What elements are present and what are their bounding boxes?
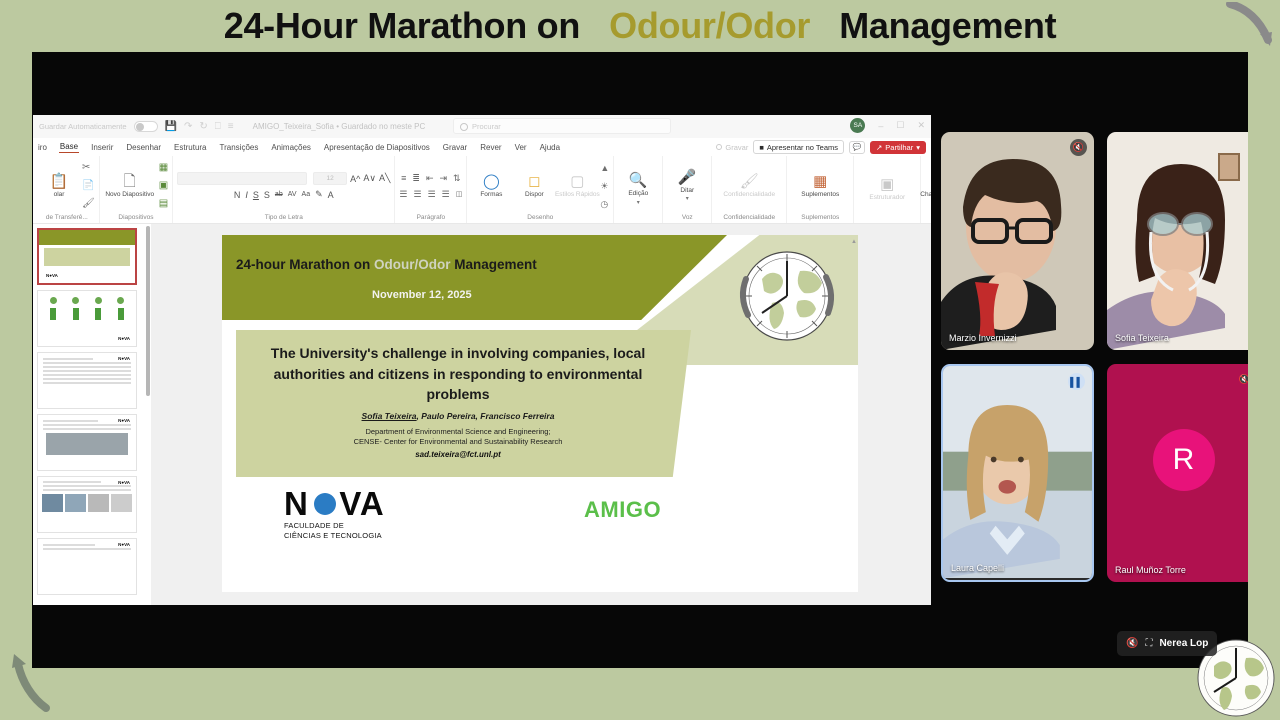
paragraph-row-2: ☰ ☰ ☰ ☰ ◫ bbox=[399, 189, 462, 200]
list-item[interactable]: N●VA bbox=[37, 414, 137, 471]
thumb-arrow-icon bbox=[118, 308, 124, 320]
ribbon-group-slides: 🗋 Novo Diapositivo ▦ ▣ ▤ Diapositivos bbox=[100, 156, 173, 223]
shapes-button[interactable]: ◯ Formas bbox=[471, 174, 511, 199]
tab-ver[interactable]: Ver bbox=[514, 143, 528, 152]
align-center-icon[interactable]: ☰ bbox=[413, 189, 421, 200]
mic-muted-icon: 🔇 bbox=[1070, 139, 1087, 156]
thumb-node-icon bbox=[95, 297, 102, 304]
present-icon[interactable]: ⎕ bbox=[215, 121, 221, 132]
group-label-font: Tipo de Letra bbox=[265, 214, 303, 222]
section-icon[interactable]: ▤ bbox=[159, 196, 168, 212]
participant-tile-sofia[interactable]: Sofia Teixeira bbox=[1107, 132, 1248, 350]
pill-participant-name: Nerea Lop bbox=[1159, 638, 1208, 649]
present-in-teams-button[interactable]: ■ Apresentar no Teams bbox=[753, 140, 844, 154]
strikethrough-icon[interactable]: ab bbox=[275, 191, 283, 198]
chevron-down-icon: ▾ bbox=[916, 143, 920, 152]
share-icon: ↗ bbox=[876, 143, 882, 152]
editing-label: Edição bbox=[628, 190, 648, 198]
change-case-icon[interactable]: Aa bbox=[302, 191, 311, 198]
powerpoint-window: Guardar Automaticamente 💾 ↷ ↻ ⎕ ≡ AMIGO_… bbox=[33, 115, 931, 605]
teams-label: Apresentar no Teams bbox=[767, 143, 838, 152]
restore-icon[interactable]: ☐ bbox=[896, 120, 904, 131]
ppt-body: N●VA bbox=[33, 224, 931, 605]
sensitivity-button[interactable]: 🖌 Confidencialidade bbox=[716, 174, 782, 199]
editing-button[interactable]: 🔍 Edição ▾ bbox=[618, 173, 658, 206]
shadow-icon[interactable]: S bbox=[264, 190, 270, 200]
avatar: R bbox=[1153, 429, 1215, 491]
window-controls: SA – ☐ ✕ bbox=[850, 118, 925, 133]
tab-ficheiro[interactable]: iro bbox=[37, 143, 48, 152]
nova-logo-subtitle: FACULDADE DE CIÊNCIAS E TECNOLOGIA bbox=[284, 521, 385, 540]
tab-desenhar[interactable]: Desenhar bbox=[125, 143, 162, 152]
slide-authors: Sofia Teixeira, Paulo Pereira, Francisco… bbox=[248, 411, 668, 421]
list-item[interactable]: N●VA bbox=[37, 352, 137, 409]
numbering-icon[interactable]: ≣ bbox=[412, 173, 420, 184]
nova-logo-word: N VA bbox=[284, 487, 385, 521]
clear-formatting-icon[interactable]: A╲ bbox=[379, 173, 390, 184]
thumb-header bbox=[39, 230, 135, 245]
ribbon: 📋 olar ✂ 📄 🖌 de Transferê... bbox=[33, 156, 931, 224]
justify-icon[interactable]: ☰ bbox=[442, 189, 450, 200]
thumb-photo bbox=[88, 494, 109, 512]
new-slide-label: Novo Diapositivo bbox=[105, 191, 154, 199]
ribbon-group-drawing: ◯ Formas ◻ Dispor ▢ Estilos Rápidos ▲ bbox=[467, 156, 614, 223]
ppt-title-bar: Guardar Automaticamente 💾 ↷ ↻ ⎕ ≡ AMIGO_… bbox=[33, 115, 931, 138]
tab-apresentacao[interactable]: Apresentação de Diapositivos bbox=[323, 143, 431, 152]
tab-animacoes[interactable]: Animações bbox=[270, 143, 312, 152]
decrease-font-icon[interactable]: A∨ bbox=[363, 173, 376, 184]
screen-root: 24-Hour Marathon on Odour/Odor Managemen… bbox=[0, 0, 1280, 720]
thumb-logo: N●VA bbox=[118, 480, 130, 485]
designer-icon: ▣ bbox=[880, 177, 894, 193]
undo-icon[interactable]: ↷ bbox=[184, 121, 192, 132]
slide-thumbnail-panel[interactable]: N●VA bbox=[33, 224, 151, 605]
tab-transicoes[interactable]: Transições bbox=[219, 143, 260, 152]
chevron-down-icon: ▾ bbox=[637, 199, 640, 206]
slide-scrollbar[interactable]: ▲ bbox=[851, 239, 856, 592]
thumb-arrow-icon bbox=[95, 308, 101, 320]
font-family-input[interactable] bbox=[177, 172, 307, 185]
slide-title: 24-hour Marathon on Odour/Odor Managemen… bbox=[236, 257, 537, 272]
camera-off-icon[interactable]: ⛶ bbox=[1145, 638, 1152, 649]
autosave-toggle[interactable] bbox=[134, 121, 158, 132]
document-name: AMIGO_Teixeira_Sofia • Guardado no meste… bbox=[253, 122, 426, 131]
mic-muted-icon: 🔇 bbox=[1236, 371, 1248, 388]
new-slide-icon: 🗋 bbox=[124, 174, 136, 190]
text-highlight-icon[interactable]: ✎ bbox=[315, 189, 323, 200]
nova-sub-line1: FACULDADE DE bbox=[284, 521, 385, 531]
slide-department-line1: Department of Environmental Science and … bbox=[248, 427, 668, 437]
decrease-indent-icon[interactable]: ⇤ bbox=[426, 173, 434, 184]
participant-tile-marzio[interactable]: 🔇 Marzio Invernizzi bbox=[941, 132, 1094, 350]
slide-header-band bbox=[222, 235, 727, 320]
close-icon[interactable]: ✕ bbox=[917, 120, 925, 131]
record-dot-icon bbox=[716, 144, 722, 150]
bold-icon[interactable]: N bbox=[234, 190, 241, 200]
shapes-icon: ◯ bbox=[483, 174, 500, 190]
paste-button[interactable]: 📋 olar bbox=[39, 174, 79, 199]
character-spacing-icon[interactable]: AV bbox=[288, 191, 297, 198]
thumb-node-icon bbox=[72, 297, 79, 304]
shape-effects-icon[interactable]: ◷ bbox=[600, 196, 609, 212]
shape-outline-icon[interactable]: ☀ bbox=[600, 178, 609, 194]
thumb-logo: N●VA bbox=[118, 418, 130, 423]
ribbon-group-ai: ◉ ChatGPT PowerPoint AI bbox=[921, 156, 931, 223]
participant-name: Raul Muñoz Torre bbox=[1115, 565, 1186, 575]
save-icon[interactable]: 💾 bbox=[165, 121, 177, 132]
video-feed bbox=[943, 366, 1092, 578]
mic-muted-icon[interactable]: 🔇 bbox=[1126, 638, 1138, 649]
thumb-arrow-icon bbox=[50, 308, 56, 320]
ribbon-group-paragraph: ≡ ≣ ⇤ ⇥ ⇅ ☰ ☰ ☰ ☰ ◫ bbox=[395, 156, 467, 223]
banner-title-highlight: Odour/Odor bbox=[609, 5, 810, 46]
slide-department-line2: CENSE- Center for Environmental and Sust… bbox=[248, 437, 668, 447]
designer-button[interactable]: ▣ Estruturador bbox=[858, 177, 916, 202]
avatar[interactable]: SA bbox=[850, 118, 865, 133]
participant-tiles: 🔇 Marzio Invernizzi Sofia Tei bbox=[941, 132, 1248, 592]
increase-font-icon[interactable]: A^ bbox=[350, 174, 360, 184]
video-feed bbox=[941, 132, 1094, 350]
thumb-band bbox=[44, 248, 130, 266]
nova-logo: N VA FACULDADE DE CIÊNCIAS E TECNOLOGIA bbox=[284, 487, 385, 540]
group-label-voice: Voz bbox=[682, 214, 693, 222]
sensitivity-icon: 🖌 bbox=[740, 174, 759, 190]
self-view-pill[interactable]: 🔇 ⛶ Nerea Lop bbox=[1117, 631, 1217, 656]
ribbon-group-clipboard: 📋 olar ✂ 📄 🖌 de Transferê... bbox=[35, 156, 100, 223]
font-size-input[interactable]: 12 bbox=[313, 172, 347, 185]
record-label: Gravar bbox=[725, 143, 748, 152]
thumbnail-scrollbar[interactable] bbox=[146, 226, 150, 396]
thumb-logo: N●VA bbox=[46, 273, 58, 278]
slide-canvas[interactable]: 24-hour Marathon on Odour/Odor Managemen… bbox=[222, 235, 858, 592]
layout-icon[interactable]: ▦ bbox=[159, 160, 168, 176]
nova-dot-icon bbox=[314, 493, 336, 515]
group-label-addins: Suplementos bbox=[801, 214, 839, 222]
teams-icon: ■ bbox=[759, 143, 764, 152]
slide-date: November 12, 2025 bbox=[372, 289, 472, 301]
ribbon-tabs: iro Base Inserir Desenhar Estrutura Tran… bbox=[33, 138, 931, 156]
participant-name: Marzio Invernizzi bbox=[949, 333, 1017, 343]
thumb-photo bbox=[46, 433, 128, 455]
tab-inserir[interactable]: Inserir bbox=[90, 143, 114, 152]
paste-label: olar bbox=[54, 191, 65, 199]
ribbon-group-voice: 🎤 Ditar ▾ Voz bbox=[663, 156, 712, 223]
ribbon-tabs-actions: Gravar ■ Apresentar no Teams 💬 ↗ Partilh… bbox=[716, 140, 931, 154]
quick-styles-icon: ▢ bbox=[570, 174, 584, 190]
shapes-label: Formas bbox=[480, 191, 502, 199]
slide-department: Department of Environmental Science and … bbox=[248, 427, 668, 447]
find-icon: 🔍 bbox=[629, 173, 648, 189]
comment-icon[interactable]: 💬 bbox=[849, 141, 865, 154]
tab-gravar[interactable]: Gravar bbox=[442, 143, 468, 152]
group-label-sensitivity: Confidencialidade bbox=[723, 214, 775, 222]
paragraph-row-1: ≡ ≣ ⇤ ⇥ ⇅ bbox=[401, 173, 460, 184]
group-label-clipboard: de Transferê... bbox=[46, 214, 88, 222]
slide-title-part2: Management bbox=[454, 257, 537, 272]
italic-icon[interactable]: I bbox=[245, 190, 248, 200]
search-placeholder: Procurar bbox=[472, 122, 501, 131]
amigo-logo: AMIGO bbox=[584, 497, 661, 523]
nova-sub-line2: CIÊNCIAS E TECNOLOGIA bbox=[284, 531, 385, 541]
chevron-down-icon: ▾ bbox=[686, 195, 689, 202]
thumb-node-icon bbox=[50, 297, 57, 304]
banner-title: 24-Hour Marathon on Odour/Odor Managemen… bbox=[224, 5, 1057, 47]
slide-title-part1: 24-hour Marathon on bbox=[236, 257, 370, 272]
globe-clock-icon bbox=[732, 241, 842, 351]
underline-icon[interactable]: S bbox=[253, 190, 259, 200]
record-button[interactable]: Gravar bbox=[716, 143, 748, 152]
shape-fill-icon[interactable]: ▲ bbox=[600, 160, 609, 176]
cut-icon[interactable]: ✂ bbox=[82, 160, 95, 176]
thumb-logo: N●VA bbox=[118, 542, 130, 547]
scroll-up-icon[interactable]: ▲ bbox=[851, 239, 856, 245]
slide-title-highlight: Odour/Odor bbox=[374, 257, 451, 272]
participant-name: Laura Capelli bbox=[951, 563, 1004, 573]
tab-base[interactable]: Base bbox=[59, 142, 79, 153]
thumb-node-icon bbox=[117, 297, 124, 304]
ribbon-group-sensitivity: 🖌 Confidencialidade Confidencialidade bbox=[712, 156, 787, 223]
search-input[interactable]: Procurar bbox=[453, 118, 671, 134]
format-painter-icon[interactable]: 🖌 bbox=[82, 196, 95, 212]
copy-icon[interactable]: 📄 bbox=[82, 178, 95, 194]
ribbon-group-font: 12 A^ A∨ A╲ N I S S ab AV Aa bbox=[173, 156, 395, 223]
reset-icon[interactable]: ▣ bbox=[159, 178, 168, 194]
slide-author-presenter: Sofia Teixeira bbox=[362, 411, 417, 421]
slide-authors-rest: , Paulo Pereira, Francisco Ferreira bbox=[417, 411, 555, 421]
font-color-icon[interactable]: A bbox=[328, 190, 334, 200]
microphone-icon: 🎤 bbox=[678, 170, 697, 186]
share-button[interactable]: ↗ Partilhar ▾ bbox=[870, 141, 926, 154]
dictate-label: Ditar bbox=[680, 187, 694, 195]
tab-rever[interactable]: Rever bbox=[479, 143, 502, 152]
bullets-icon[interactable]: ≡ bbox=[401, 173, 406, 183]
list-item[interactable]: N●VA bbox=[37, 290, 137, 347]
autosave-label: Guardar Automaticamente bbox=[39, 122, 127, 131]
ribbon-group-addins: ▦ Suplementos Suplementos bbox=[787, 156, 854, 223]
banner-title-part2: Management bbox=[839, 5, 1056, 46]
chatgpt-label: ChatGPT PowerPoint bbox=[920, 191, 931, 199]
increase-indent-icon[interactable]: ⇥ bbox=[440, 173, 448, 184]
thumb-photo bbox=[42, 494, 63, 512]
sensitivity-label: Confidencialidade bbox=[723, 191, 775, 199]
participant-name: Sofia Teixeira bbox=[1115, 333, 1169, 343]
slide-heading: The University's challenge in involving … bbox=[248, 343, 668, 405]
list-item[interactable]: N●VA bbox=[37, 538, 137, 595]
slide-editor-pane[interactable]: 24-hour Marathon on Odour/Odor Managemen… bbox=[151, 224, 931, 605]
video-feed bbox=[1107, 132, 1248, 350]
minimize-icon[interactable]: – bbox=[878, 121, 883, 131]
ribbon-group-designer: ▣ Estruturador bbox=[854, 156, 921, 223]
arrange-label: Dispor bbox=[525, 191, 544, 199]
add-ins-button[interactable]: ▦ Suplementos bbox=[791, 174, 849, 199]
align-right-icon[interactable]: ☰ bbox=[428, 189, 436, 200]
line-spacing-icon[interactable]: ⇅ bbox=[453, 173, 461, 184]
designer-label: Estruturador bbox=[869, 194, 905, 202]
participant-tile-laura[interactable]: ▌▌ Laura Capelli bbox=[941, 364, 1094, 582]
group-label-drawing: Desenho bbox=[527, 214, 553, 222]
arrange-icon: ◻ bbox=[528, 174, 540, 190]
font-format-row: N I S S ab AV Aa ✎ A bbox=[234, 189, 334, 200]
thumb-logo: N●VA bbox=[118, 336, 130, 341]
align-left-icon[interactable]: ☰ bbox=[399, 189, 407, 200]
audio-level-icon: ▌▌ bbox=[1068, 373, 1085, 390]
group-label-paragraph: Parágrafo bbox=[417, 214, 446, 222]
thumb-logo: N●VA bbox=[118, 356, 130, 361]
share-label: Partilhar bbox=[885, 143, 913, 152]
arrange-button[interactable]: ◻ Dispor bbox=[514, 174, 554, 199]
columns-icon[interactable]: ◫ bbox=[456, 190, 463, 198]
redo-icon[interactable]: ↻ bbox=[199, 121, 207, 132]
new-slide-button[interactable]: 🗋 Novo Diapositivo bbox=[104, 174, 156, 199]
list-item[interactable]: N●VA bbox=[37, 228, 137, 285]
ribbon-group-editing: 🔍 Edição ▾ bbox=[614, 156, 663, 223]
tab-estrutura[interactable]: Estrutura bbox=[173, 143, 207, 152]
thumb-photo bbox=[65, 494, 86, 512]
add-ins-icon: ▦ bbox=[813, 174, 827, 190]
slide-email: sad.teixeira@fct.unl.pt bbox=[248, 450, 668, 459]
chatgpt-button[interactable]: ◉ ChatGPT PowerPoint bbox=[925, 174, 931, 199]
dictate-button[interactable]: 🎤 Ditar ▾ bbox=[667, 170, 707, 203]
tab-ajuda[interactable]: Ajuda bbox=[539, 143, 561, 152]
quick-styles-button[interactable]: ▢ Estilos Rápidos bbox=[557, 174, 597, 199]
page-banner: 24-Hour Marathon on Odour/Odor Managemen… bbox=[0, 0, 1280, 52]
thumb-photo bbox=[111, 494, 132, 512]
group-label-slides: Diapositivos bbox=[118, 214, 153, 222]
banner-title-part1: 24-Hour Marathon on bbox=[224, 5, 580, 46]
ellipsis-icon[interactable]: ≡ bbox=[228, 121, 234, 132]
quick-styles-label: Estilos Rápidos bbox=[555, 191, 600, 199]
curved-arrow-icon bbox=[1222, 2, 1274, 48]
list-item[interactable]: N●VA bbox=[37, 476, 137, 533]
paste-icon: 📋 bbox=[50, 174, 69, 190]
video-stage: Guardar Automaticamente 💾 ↷ ↻ ⎕ ≡ AMIGO_… bbox=[32, 52, 1248, 668]
participant-tile-raul[interactable]: R 🔇 Raul Muñoz Torre bbox=[1107, 364, 1248, 582]
add-ins-label: Suplementos bbox=[801, 191, 839, 199]
thumb-arrow-icon bbox=[73, 308, 79, 320]
